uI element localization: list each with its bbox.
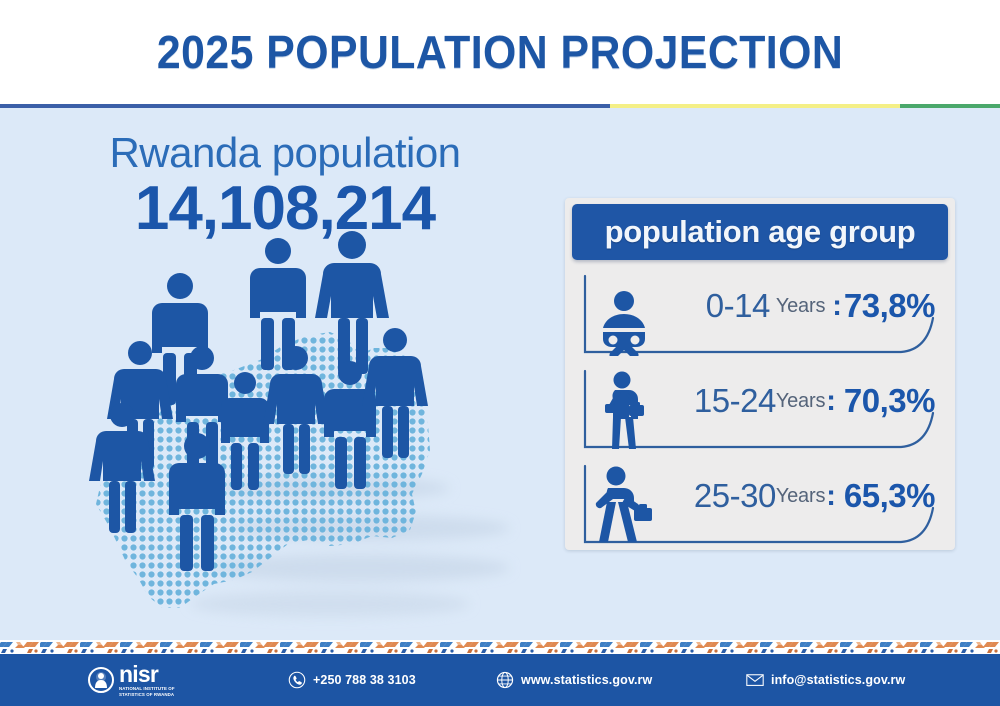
worker-with-briefcase-icon <box>587 454 661 546</box>
envelope-icon <box>746 671 764 689</box>
footer-phone[interactable]: +250 788 38 3103 <box>288 671 416 689</box>
panel-header: population age group <box>572 204 948 260</box>
page-title: 2025 POPULATION PROJECTION <box>157 25 843 79</box>
age-range: 25-30 <box>694 477 776 515</box>
population-headline: Rwanda population 14,108,214 <box>70 132 500 241</box>
header: 2025 POPULATION PROJECTION <box>0 0 1000 104</box>
panel-title: population age group <box>605 214 916 250</box>
footer: nisr NATIONAL INSTITUTE OF STATISTICS OF… <box>0 654 1000 706</box>
nisr-logo[interactable]: nisr NATIONAL INSTITUTE OF STATISTICS OF… <box>88 663 175 698</box>
row-text: 25-30Years:65,3% <box>673 456 935 536</box>
rwandan-pattern-strip <box>0 640 1000 654</box>
age-separator: : <box>826 385 836 418</box>
email-text: info@statistics.gov.rw <box>771 673 905 687</box>
row-text: 0-14Years:73,8% <box>673 266 935 346</box>
globe-icon <box>496 671 514 689</box>
footer-website[interactable]: www.statistics.gov.rw <box>496 671 652 689</box>
infographic-page: 2025 POPULATION PROJECTION Rwanda popula… <box>0 0 1000 706</box>
baby-icon <box>587 264 661 356</box>
nisr-subtitle-line1: NATIONAL INSTITUTE OF <box>119 687 175 691</box>
nisr-logo-wordmark: nisr NATIONAL INSTITUTE OF STATISTICS OF… <box>119 663 175 698</box>
population-label: Rwanda population <box>70 132 500 174</box>
student-with-bag-icon <box>587 359 661 451</box>
age-percent: 73,8% <box>844 287 935 325</box>
nisr-subtitle-line2: STATISTICS OF RWANDA <box>119 693 175 697</box>
phone-icon <box>288 671 306 689</box>
age-group-row[interactable]: 15-24Years:70,3% <box>565 361 955 456</box>
age-separator: : <box>826 480 836 513</box>
age-unit: Years <box>776 485 825 508</box>
age-group-panel: population age group <box>565 198 955 550</box>
age-percent: 70,3% <box>844 382 935 420</box>
row-text: 15-24Years:70,3% <box>673 361 935 441</box>
nisr-name: nisr <box>119 663 175 686</box>
age-group-row[interactable]: 0-14Years:73,8% <box>565 266 955 361</box>
website-text: www.statistics.gov.rw <box>521 673 652 687</box>
age-unit: Years <box>776 295 825 318</box>
age-separator: : <box>832 290 842 323</box>
main-stage: Rwanda population 14,108,214 <box>0 108 1000 640</box>
footer-email[interactable]: info@statistics.gov.rw <box>746 671 905 689</box>
age-group-rows: 0-14Years:73,8% <box>565 266 955 551</box>
rwanda-map-illustration <box>30 228 530 638</box>
phone-text: +250 788 38 3103 <box>313 673 416 687</box>
age-range: 15-24 <box>694 382 776 420</box>
age-percent: 65,3% <box>844 477 935 515</box>
age-group-row[interactable]: 25-30Years:65,3% <box>565 456 955 551</box>
nisr-logo-icon <box>88 667 114 693</box>
age-range: 0-14 <box>706 287 770 325</box>
age-unit: Years <box>776 390 825 413</box>
